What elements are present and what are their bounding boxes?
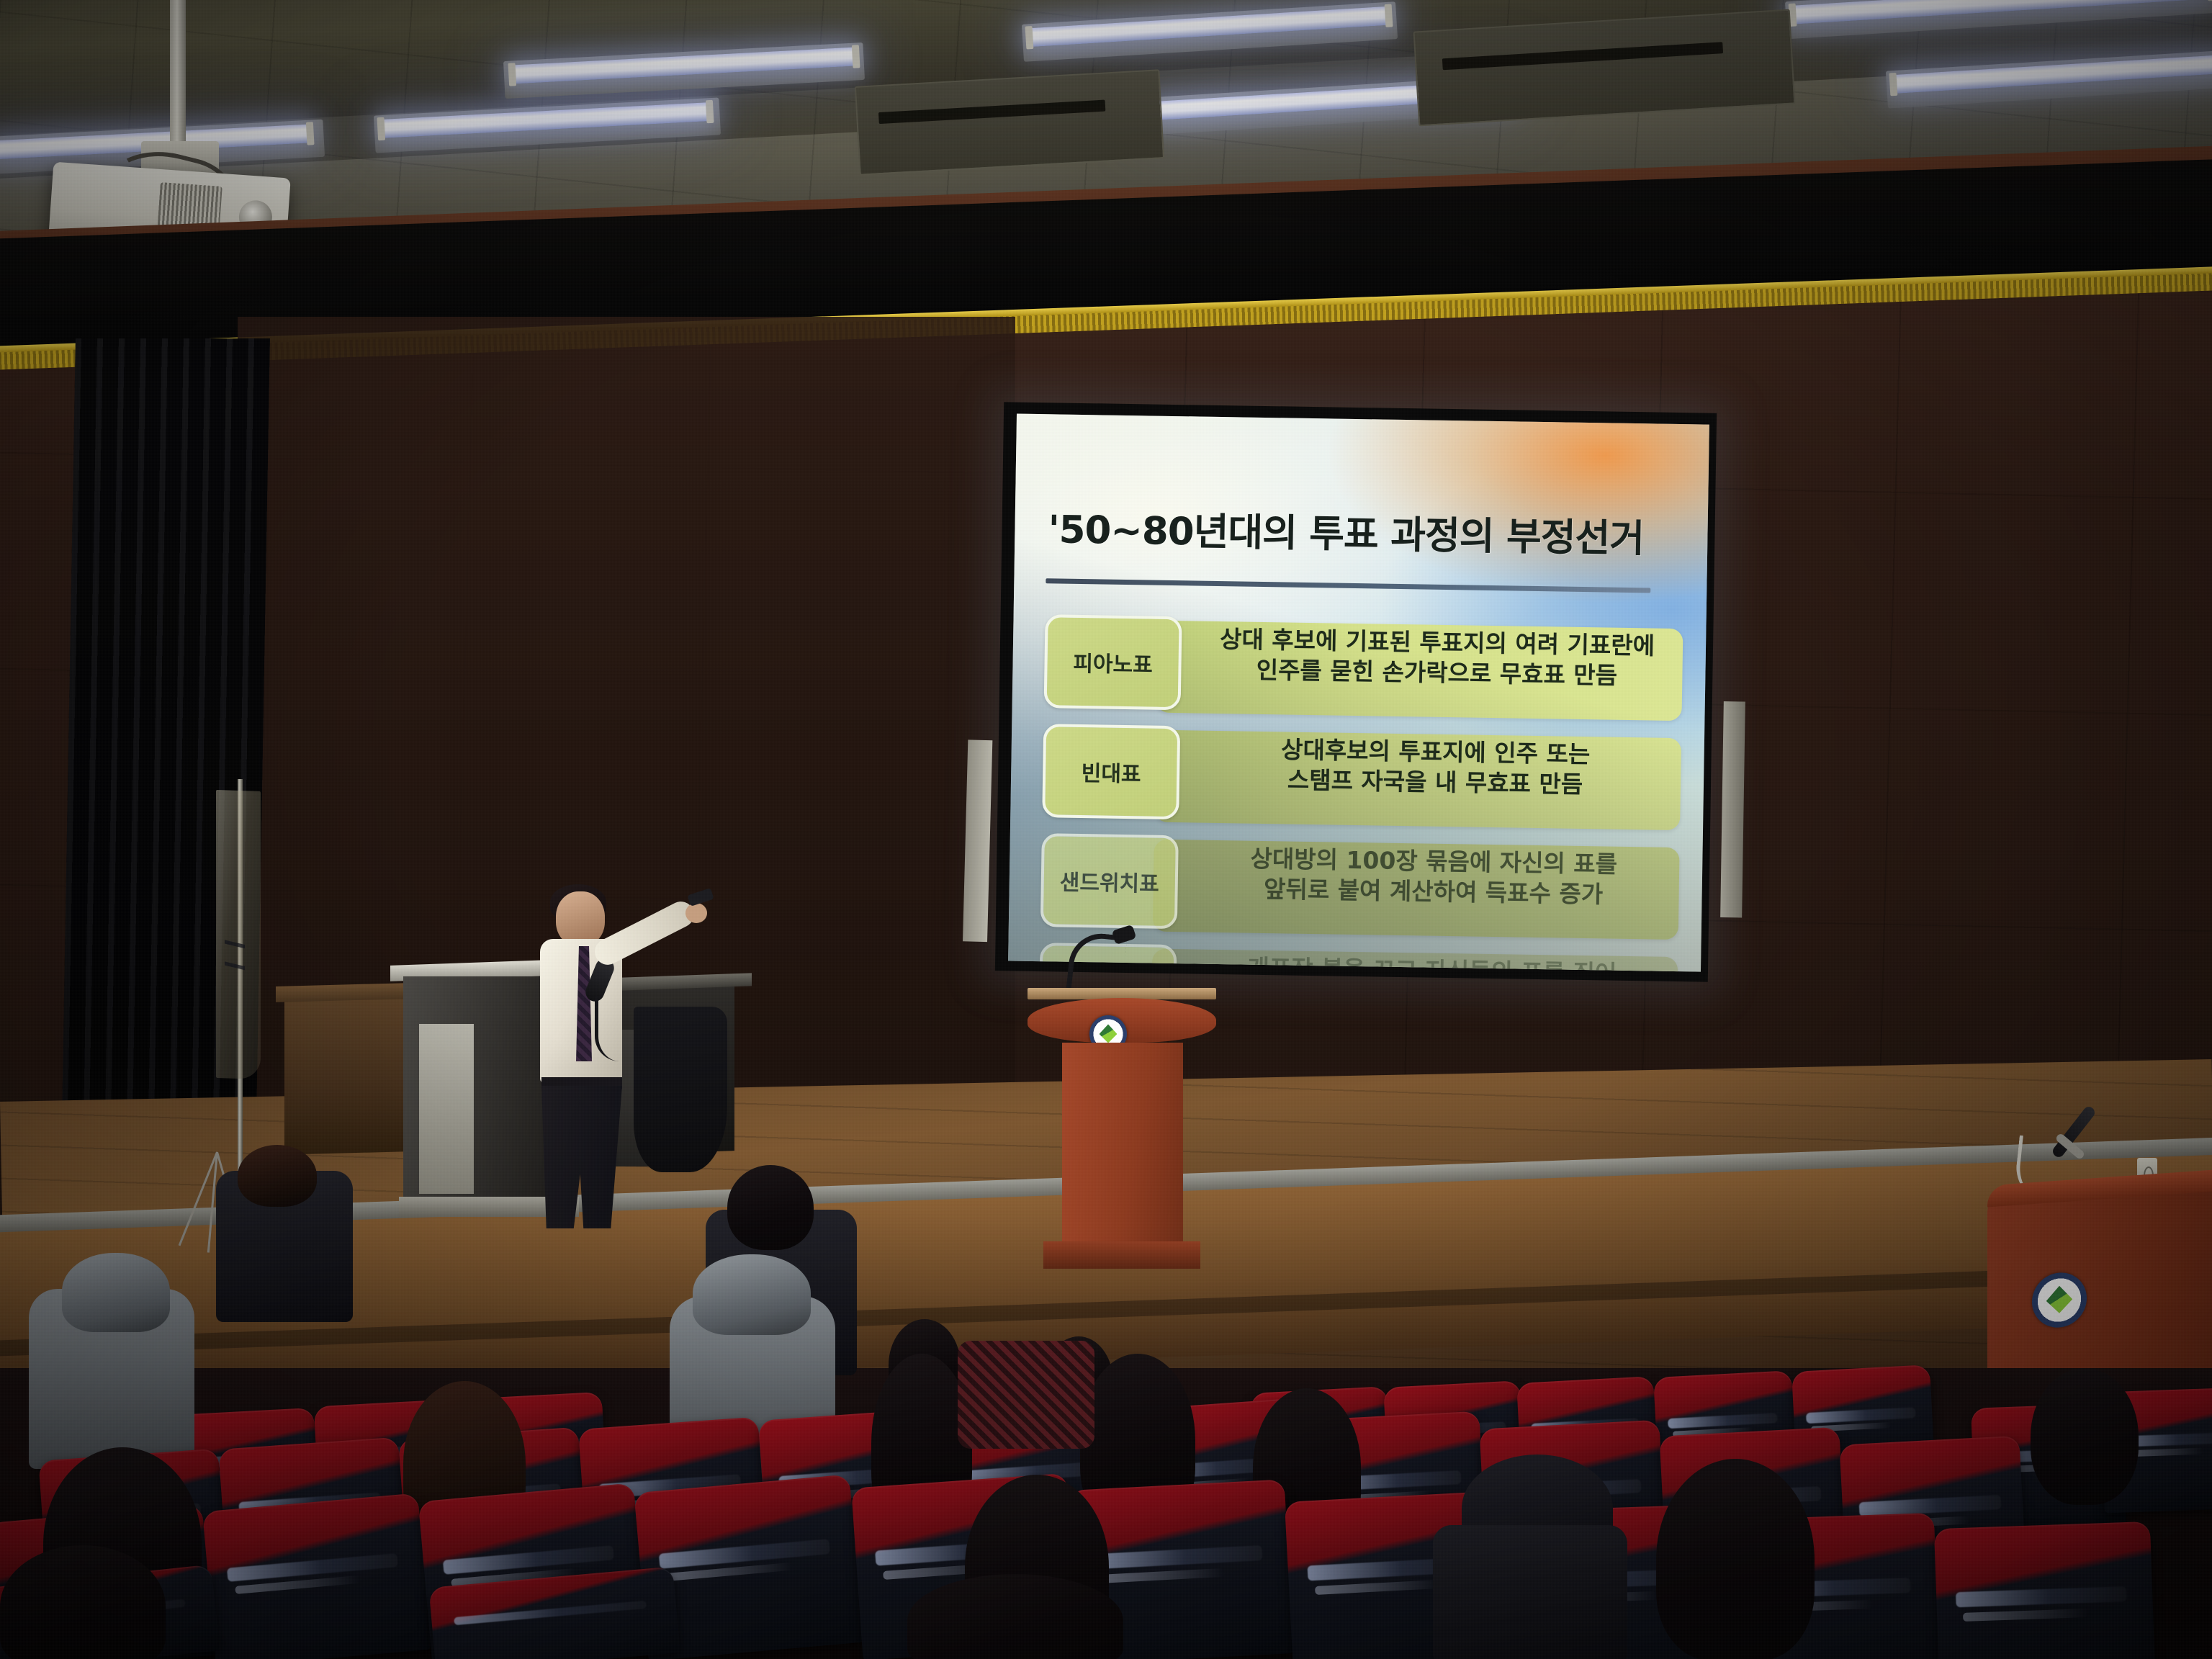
presenter-raised-arm bbox=[590, 897, 698, 969]
audience-hood bbox=[62, 1253, 170, 1332]
slide-row-description: 상대후보의 투표지에 인주 또는 스탬프 자국을 내 무효표 만듬 bbox=[1192, 733, 1678, 801]
slide-row-description: 상대 후보에 기표된 투표지의 여려 기표란에 인주를 묻힌 손가락으로 무효표… bbox=[1194, 624, 1680, 692]
lectern-equipment-panel bbox=[419, 1024, 474, 1194]
audience-coat bbox=[1433, 1525, 1627, 1659]
slide-row-tag: 샌드위치표 bbox=[1040, 833, 1179, 929]
audience-head bbox=[238, 1145, 317, 1207]
slide-title-underline bbox=[1046, 578, 1650, 593]
presenter bbox=[504, 876, 720, 1236]
presenter-trousers bbox=[541, 1086, 622, 1228]
slide-row: 올빼미표 개표장 불을 끄고 자신들의 표를 집어 넣거나 상대방의 표 묶음을… bbox=[1038, 943, 1683, 971]
auditorium-seat bbox=[202, 1493, 431, 1659]
podium-column bbox=[1062, 1043, 1183, 1244]
wooden-podium bbox=[1039, 988, 1203, 1269]
auditorium-photo: '50~80년대의 투표 과정의 부정선거 피아노표 상대 후보에 기표된 투표… bbox=[0, 0, 2212, 1659]
slide-row: 피아노표 상대 후보에 기표된 투표지의 여려 기표란에 인주를 묻힌 손가락으… bbox=[1043, 614, 1689, 729]
slide-row-description: 상대방의 100장 묶음에 자신의 표를 앞뒤로 붙여 계산하여 득표수 증가 bbox=[1190, 842, 1676, 911]
audience-head bbox=[1656, 1459, 1815, 1659]
projection-screen: '50~80년대의 투표 과정의 부정선거 피아노표 상대 후보에 기표된 투표… bbox=[1008, 414, 1709, 972]
auditorium-seat bbox=[1934, 1521, 2156, 1659]
projection-screen-frame: '50~80년대의 투표 과정의 부정선거 피아노표 상대 후보에 기표된 투표… bbox=[995, 402, 1717, 981]
screen-side-bar-right bbox=[1720, 701, 1745, 917]
slide-row-tag: 빈대표 bbox=[1042, 724, 1180, 819]
audience-head bbox=[2031, 1368, 2139, 1505]
audience-head bbox=[0, 1545, 166, 1659]
audience-hood bbox=[693, 1254, 811, 1335]
slide-row-tag: 피아노표 bbox=[1044, 614, 1182, 710]
audience-head bbox=[727, 1165, 814, 1250]
slide-row: 샌드위치표 상대방의 100장 묶음에 자신의 표를 앞뒤로 붙여 계산하여 득… bbox=[1040, 833, 1686, 948]
slide-rows: 피아노표 상대 후보에 기표된 투표지의 여려 기표란에 인주를 묻힌 손가락으… bbox=[1040, 614, 1689, 958]
korean-national-flag bbox=[216, 790, 261, 1079]
projector-mount-pole bbox=[170, 0, 186, 151]
school-emblem bbox=[2032, 1271, 2087, 1329]
ceiling-air-vent bbox=[855, 69, 1164, 175]
audience-plaid-scarf bbox=[958, 1341, 1094, 1449]
podium-base bbox=[1043, 1241, 1200, 1269]
slide-title: '50~80년대의 투표 과정의 부정선거 bbox=[1048, 499, 1653, 563]
flag-trigram bbox=[225, 940, 245, 959]
podium-head bbox=[1028, 998, 1216, 1043]
presenter-hand bbox=[685, 903, 707, 923]
audience-head bbox=[907, 1574, 1123, 1659]
presenter-head bbox=[556, 891, 605, 946]
slide-row: 빈대표 상대후보의 투표지에 인주 또는 스탬프 자국을 내 무효표 만듬 bbox=[1042, 724, 1687, 839]
flag-trigram bbox=[225, 961, 245, 981]
